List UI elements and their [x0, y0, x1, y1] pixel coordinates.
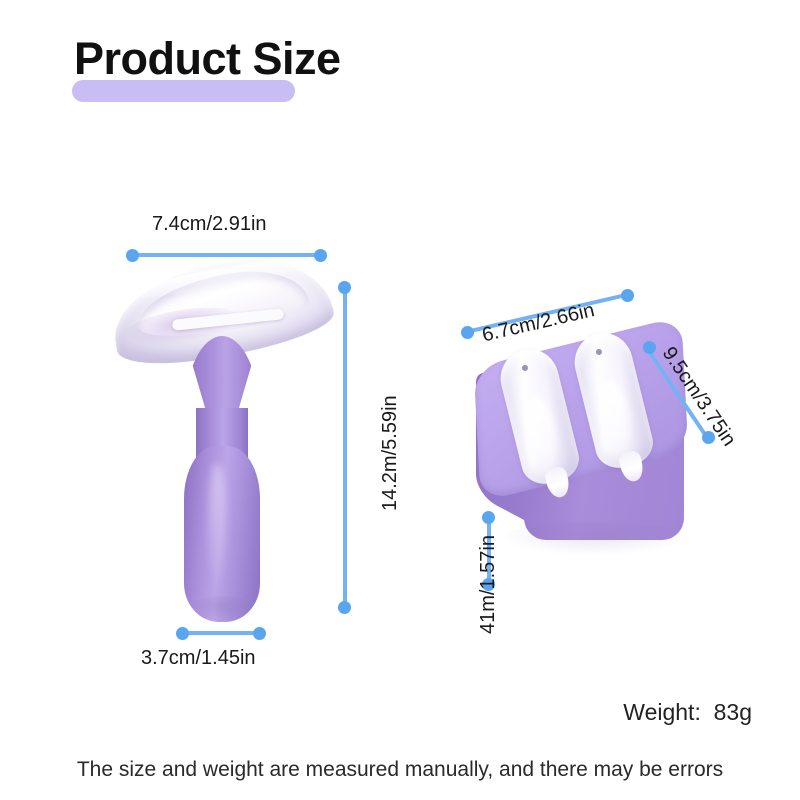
- dimension-dot-applicator-width-top-left: [126, 249, 139, 262]
- insert-left-highlight: [522, 393, 563, 463]
- dimension-label-case-height: 41m/1.57in: [477, 535, 500, 634]
- dimension-label-applicator-width-top: 7.4cm/2.91in: [152, 213, 267, 236]
- dimension-line-applicator-width-top: [131, 253, 321, 257]
- dimension-dot-applicator-height-bottom: [338, 601, 351, 614]
- insert-right-highlight: [596, 377, 637, 447]
- insert-right-vent-dot: [595, 348, 602, 355]
- case-ground-shadow: [500, 522, 690, 556]
- applicator-base-shadow: [190, 596, 254, 622]
- dimension-dot-applicator-width-base-left: [176, 627, 189, 640]
- dimension-dot-case-height-top: [482, 511, 495, 524]
- insert-left-vent-dot: [521, 364, 528, 371]
- dimension-line-applicator-height: [343, 288, 347, 606]
- product-applicator-image: [110, 258, 350, 628]
- dimension-dot-case-depth-top: [643, 341, 656, 354]
- product-size-infographic: Product Size 7.4cm/2.91in 14.2m/5.59in 3…: [0, 0, 800, 800]
- dimension-dot-applicator-width-base-right: [253, 627, 266, 640]
- dimension-dot-applicator-height-top: [338, 281, 351, 294]
- dimension-dot-case-width-left: [461, 326, 474, 339]
- dimension-dot-case-width-right: [621, 289, 634, 302]
- dimension-line-applicator-width-base: [181, 631, 260, 635]
- title-block: Product Size: [72, 32, 492, 102]
- dimension-label-applicator-height: 14.2m/5.59in: [379, 395, 402, 511]
- page-title: Product Size: [74, 32, 341, 86]
- dimension-label-applicator-width-base: 3.7cm/1.45in: [141, 647, 256, 670]
- disclaimer-text: The size and weight are measured manuall…: [0, 758, 800, 782]
- weight-text: Weight: 83g: [623, 699, 752, 726]
- dimension-dot-applicator-width-top-right: [314, 249, 327, 262]
- applicator-base-highlight: [208, 463, 226, 583]
